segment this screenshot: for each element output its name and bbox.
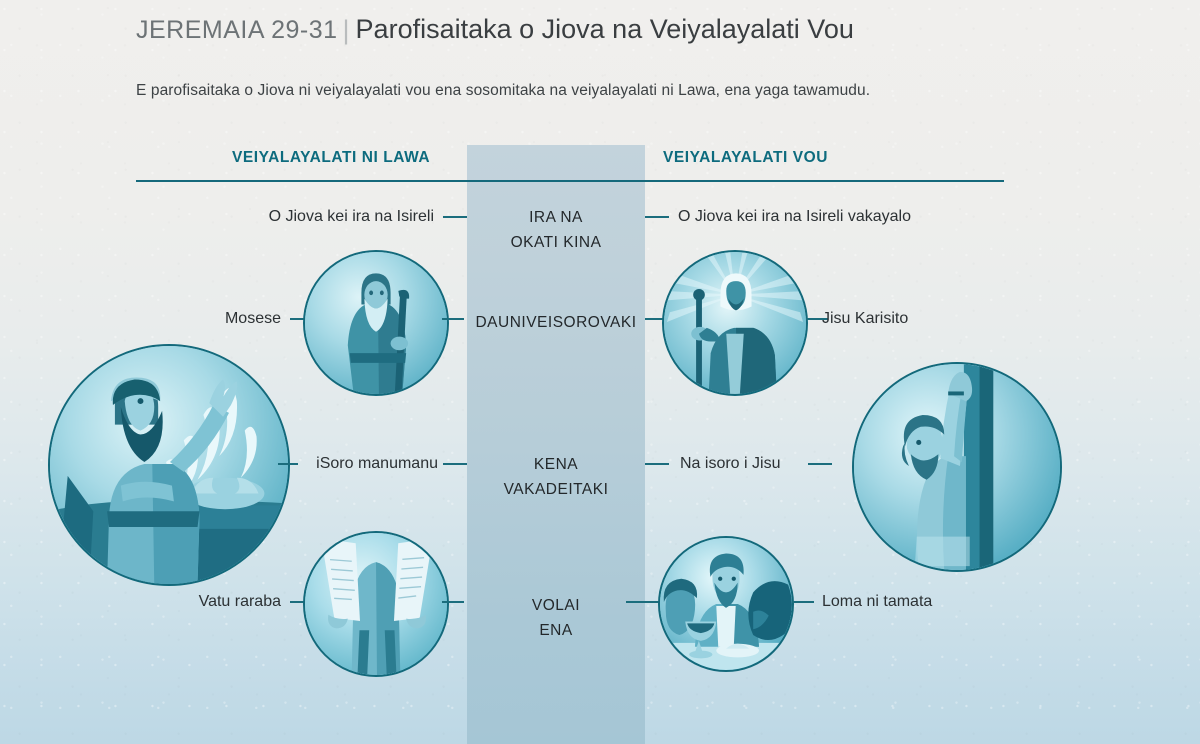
row-3-right-connector-a — [645, 463, 669, 465]
column-heading-old-covenant: VEIYALAYALATI NI LAWA — [232, 149, 430, 167]
page-title: JEREMAIA 29-31|Parofisaitaka o Jiova na … — [136, 14, 854, 46]
tablets-illustration-circle — [303, 531, 449, 677]
row-1-left-label: O Jiova kei ira na Isireli — [269, 208, 434, 226]
infographic-page: JEREMAIA 29-31|Parofisaitaka o Jiova na … — [0, 0, 1200, 744]
row-3-right-connector-b — [808, 463, 832, 465]
row-1-right-connector — [645, 216, 669, 218]
stake-illustration-circle — [852, 362, 1062, 572]
sacrifice-illustration-circle — [48, 344, 290, 586]
scripture-reference: JEREMAIA 29-31 — [136, 16, 338, 44]
row-2-left-label: Mosese — [225, 310, 281, 328]
jesus-king-illustration-circle — [662, 250, 808, 396]
row-3-right-label: Na isoro i Jisu — [680, 455, 780, 473]
row-3-left-connector-a — [278, 463, 298, 465]
row-2-right-label: Jisu Karisito — [822, 310, 908, 328]
column-heading-new-covenant: VEIYALAYALATI VOU — [663, 149, 828, 167]
row-4-left-connector-b — [442, 601, 464, 603]
row-4-right-connector-a — [626, 601, 662, 603]
row-1-right-label: O Jiova kei ira na Isireli vakayalo — [678, 208, 911, 226]
priest-animal-sacrifice-on-altar-icon — [50, 346, 288, 584]
row-3-left-connector-b — [443, 463, 467, 465]
moses-with-staff-icon — [305, 252, 447, 394]
stone-tablets-illustration-icon — [305, 533, 447, 675]
row-1-center-label: IRA NA OKATI KINA — [467, 205, 645, 255]
supper-illustration-circle — [658, 536, 794, 672]
row-4-center-label: VOLAI ENA — [467, 593, 645, 643]
glorified-jesus-with-scepter-icon — [664, 252, 806, 394]
title-divider: | — [343, 15, 350, 46]
title-main-text: Parofisaitaka o Jiova na Veiyalayalati V… — [356, 14, 854, 44]
row-1-left-connector — [443, 216, 467, 218]
moses-illustration-circle — [303, 250, 449, 396]
row-3-left-label: iSoro manumanu — [316, 455, 438, 473]
jesus-memorial-supper-icon — [660, 538, 792, 670]
row-4-right-label: Loma ni tamata — [822, 593, 932, 611]
row-3-center-label: KENA VAKADEITAKI — [467, 452, 645, 502]
row-4-left-label: Vatu raraba — [199, 593, 281, 611]
jesus-on-torture-stake-icon — [854, 364, 1060, 570]
row-4-right-connector-b — [792, 601, 814, 603]
row-2-center-label: DAUNIVEISOROVAKI — [467, 310, 645, 335]
row-2-left-connector-b — [442, 318, 464, 320]
page-subtitle: E parofisaitaka o Jiova ni veiyalayalati… — [136, 82, 870, 100]
header-divider-rule — [136, 180, 1004, 182]
